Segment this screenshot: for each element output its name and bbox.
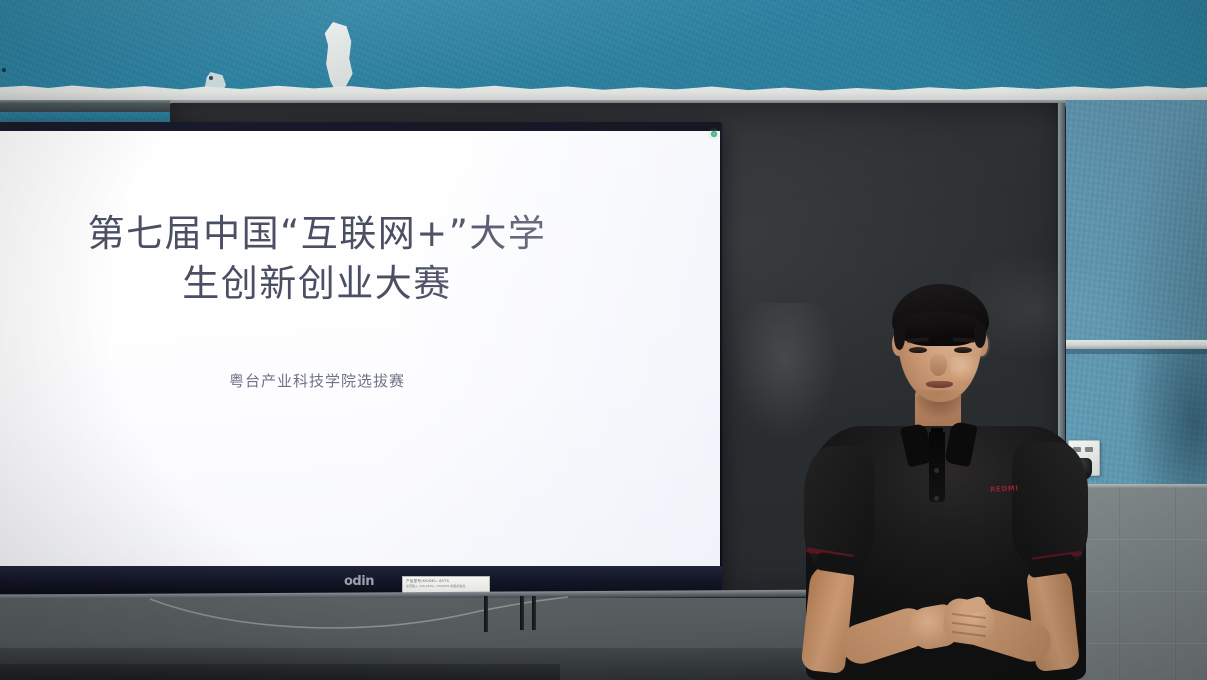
cheek-highlight <box>950 356 980 382</box>
chin-shading <box>912 390 966 406</box>
presenter: REDMI <box>800 268 1090 680</box>
shirt-placket <box>929 432 945 502</box>
shirt-chest-logo: REDMI <box>990 484 1019 493</box>
display-brand-label: odin <box>344 574 374 589</box>
shirt-button <box>934 496 939 501</box>
slide-title: 第七届中国“互联网+”大学 生创新创业大赛 <box>0 209 642 309</box>
power-led-icon <box>711 131 717 137</box>
hair-fringe <box>896 312 984 332</box>
presentation-screen[interactable]: 第七届中国“互联网+”大学 生创新创业大赛 粤台产业科技学院选拔赛 du 中 %… <box>0 131 720 567</box>
nose <box>930 354 947 376</box>
shoulder-right <box>1012 442 1088 566</box>
sideburn-left <box>894 324 905 350</box>
screen-glare <box>0 131 720 567</box>
display-stand-leg <box>520 596 524 630</box>
wall-nail <box>209 76 213 80</box>
eye-left <box>909 347 927 353</box>
sagging-wire <box>150 595 570 640</box>
display-stand-leg <box>484 596 488 632</box>
classroom-photo-scene: 第七届中国“互联网+”大学 生创新创业大赛 粤台产业科技学院选拔赛 du 中 %… <box>0 0 1207 680</box>
display-stand-leg <box>532 596 536 630</box>
sideburn-right <box>974 322 986 348</box>
shirt-button <box>934 468 939 473</box>
sticker-spec-line: 交流输入 100-240V~ 50/60Hz 制造商信息 <box>406 584 486 589</box>
floor-shadow <box>0 664 560 680</box>
mouth <box>926 381 953 388</box>
eye-right <box>954 347 972 353</box>
wall-nail <box>2 68 6 72</box>
slide-subtitle: 粤台产业科技学院选拔赛 <box>0 370 642 391</box>
